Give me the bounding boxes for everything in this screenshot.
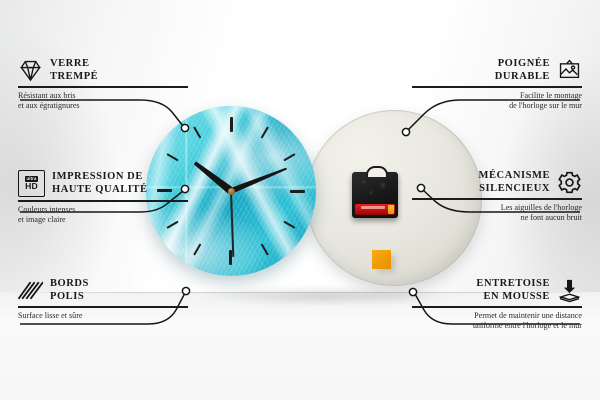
- feature-desc: Permet de maintenir une distance: [412, 311, 582, 321]
- feature-desc: uniforme entre l'horloge et le mur: [412, 321, 582, 331]
- feature-title: POLIS: [50, 291, 89, 304]
- feature-desc: Surface lisse et sûre: [18, 311, 188, 321]
- feature-title: BORDS: [50, 278, 89, 291]
- feature-poignee-durable: POIGNÉE DURABLE Facilite le montage de l…: [412, 58, 582, 112]
- feature-entretoise-en-mousse: ENTRETOISE EN MOUSSE Permet de maintenir…: [412, 278, 582, 332]
- divider: [412, 306, 582, 308]
- callout-dot: [402, 128, 409, 135]
- feature-title: DURABLE: [495, 71, 550, 84]
- feature-verre-trempe: VERRE TREMPÉ Résistant aux bris et aux é…: [18, 58, 188, 112]
- product-infographic: VERRE TREMPÉ Résistant aux bris et aux é…: [0, 0, 600, 400]
- ultra-hd-badge-icon: ultra HD: [18, 170, 45, 197]
- feature-desc: Les aiguilles de l'horloge: [412, 203, 582, 213]
- feature-title: EN MOUSSE: [476, 291, 550, 304]
- feature-title: HAUTE QUALITÉ: [52, 184, 148, 197]
- divider: [18, 306, 188, 308]
- callout-dot: [181, 124, 188, 131]
- polished-edges-icon: [18, 278, 43, 303]
- feature-desc: de l'horloge sur le mur: [412, 101, 582, 111]
- divider: [412, 86, 582, 88]
- feature-title: POIGNÉE: [495, 58, 550, 71]
- feature-desc: Facilite le montage: [412, 91, 582, 101]
- feature-title: TREMPÉ: [50, 71, 98, 84]
- feature-title: VERRE: [50, 58, 98, 71]
- badge-hd-text: HD: [25, 182, 38, 191]
- foam-spacer-icon: [557, 278, 582, 303]
- feature-desc: Couleurs intenses: [18, 205, 188, 215]
- feature-title: ENTRETOISE: [476, 278, 550, 291]
- feature-title: MÉCANISME: [479, 170, 550, 183]
- gear-icon: [557, 170, 582, 195]
- divider: [412, 198, 582, 200]
- feature-impression-haute-qualite: ultra HD IMPRESSION DE HAUTE QUALITÉ Cou…: [18, 170, 188, 226]
- feature-title: IMPRESSION DE: [52, 171, 148, 184]
- feature-desc: Résistant aux bris: [18, 91, 188, 101]
- divider: [18, 86, 188, 88]
- feature-desc: et aux égratignures: [18, 101, 188, 111]
- feature-bords-polis: BORDS POLIS Surface lisse et sûre: [18, 278, 188, 321]
- picture-hanger-icon: [557, 58, 582, 83]
- feature-desc: et image claire: [18, 215, 188, 225]
- feature-desc: ne font aucun bruit: [412, 213, 582, 223]
- diamond-icon: [18, 58, 43, 83]
- feature-title: SILENCIEUX: [479, 183, 550, 196]
- divider: [18, 200, 188, 202]
- feature-mecanisme-silencieux: MÉCANISME SILENCIEUX Les aiguilles de l'…: [412, 170, 582, 224]
